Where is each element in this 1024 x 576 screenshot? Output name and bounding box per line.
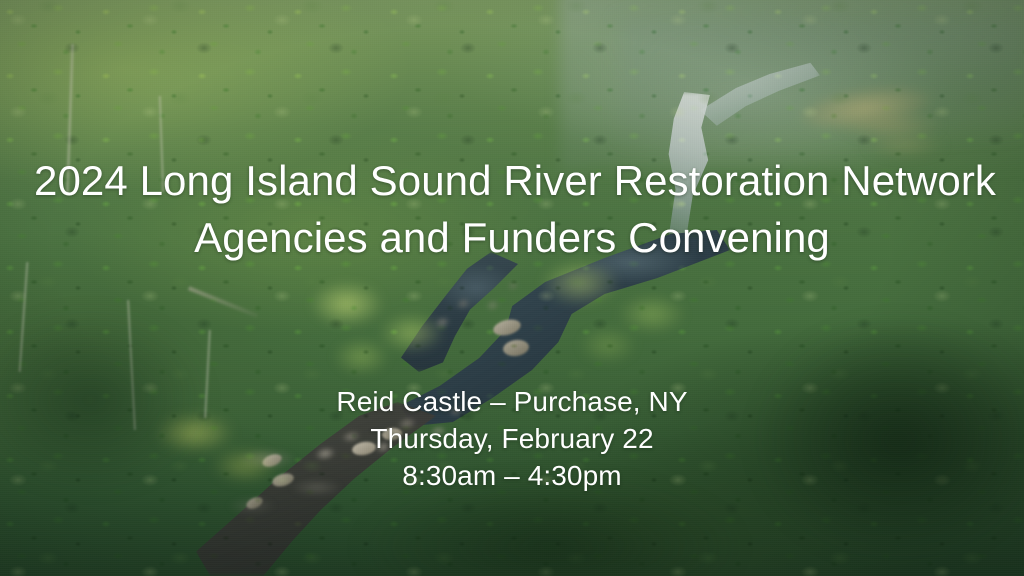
text-overlay: 2024 Long Island Sound River Restoration… <box>0 0 1024 576</box>
event-venue: Reid Castle – Purchase, NY <box>0 383 1024 420</box>
event-details: Reid Castle – Purchase, NY Thursday, Feb… <box>0 383 1024 494</box>
event-date: Thursday, February 22 <box>0 420 1024 457</box>
event-time: 8:30am – 4:30pm <box>0 457 1024 494</box>
event-title-slide: 2024 Long Island Sound River Restoration… <box>0 0 1024 576</box>
event-title-line-1: 2024 Long Island Sound River Restoration… <box>34 152 990 209</box>
event-title: 2024 Long Island Sound River Restoration… <box>0 152 1024 266</box>
event-title-line-2: Agencies and Funders Convening <box>34 209 990 266</box>
